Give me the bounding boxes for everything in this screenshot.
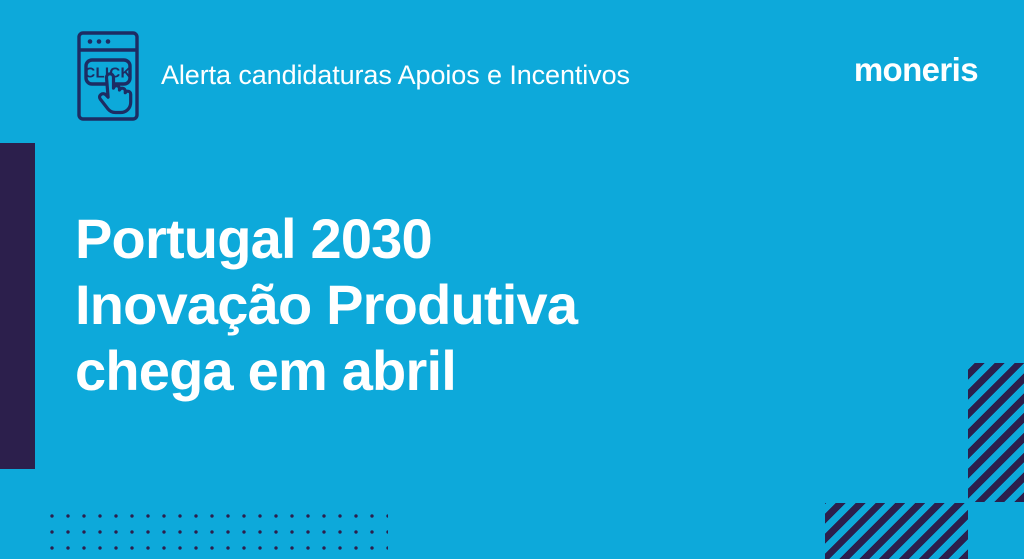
headline-line-2: Inovação Produtiva bbox=[75, 272, 775, 338]
banner-header: CLICK Alerta candidaturas Apoios e Incen… bbox=[0, 0, 1024, 130]
decorative-left-bar bbox=[0, 143, 35, 469]
headline-line-1: Portugal 2030 bbox=[75, 206, 775, 272]
moneris-logo: moneris bbox=[854, 51, 978, 89]
promo-banner: CLICK Alerta candidaturas Apoios e Incen… bbox=[0, 0, 1024, 559]
header-title: Alerta candidaturas Apoios e Incentivos bbox=[161, 58, 630, 92]
headline-line-3: chega em abril bbox=[75, 338, 775, 404]
decorative-stripes-bottom-right bbox=[825, 503, 968, 559]
decorative-stripes-top-right bbox=[968, 363, 1024, 502]
headline-block: Portugal 2030 Inovação Produtiva chega e… bbox=[75, 206, 775, 404]
decorative-dot-grid bbox=[44, 508, 388, 559]
click-browser-icon: CLICK bbox=[76, 30, 140, 122]
